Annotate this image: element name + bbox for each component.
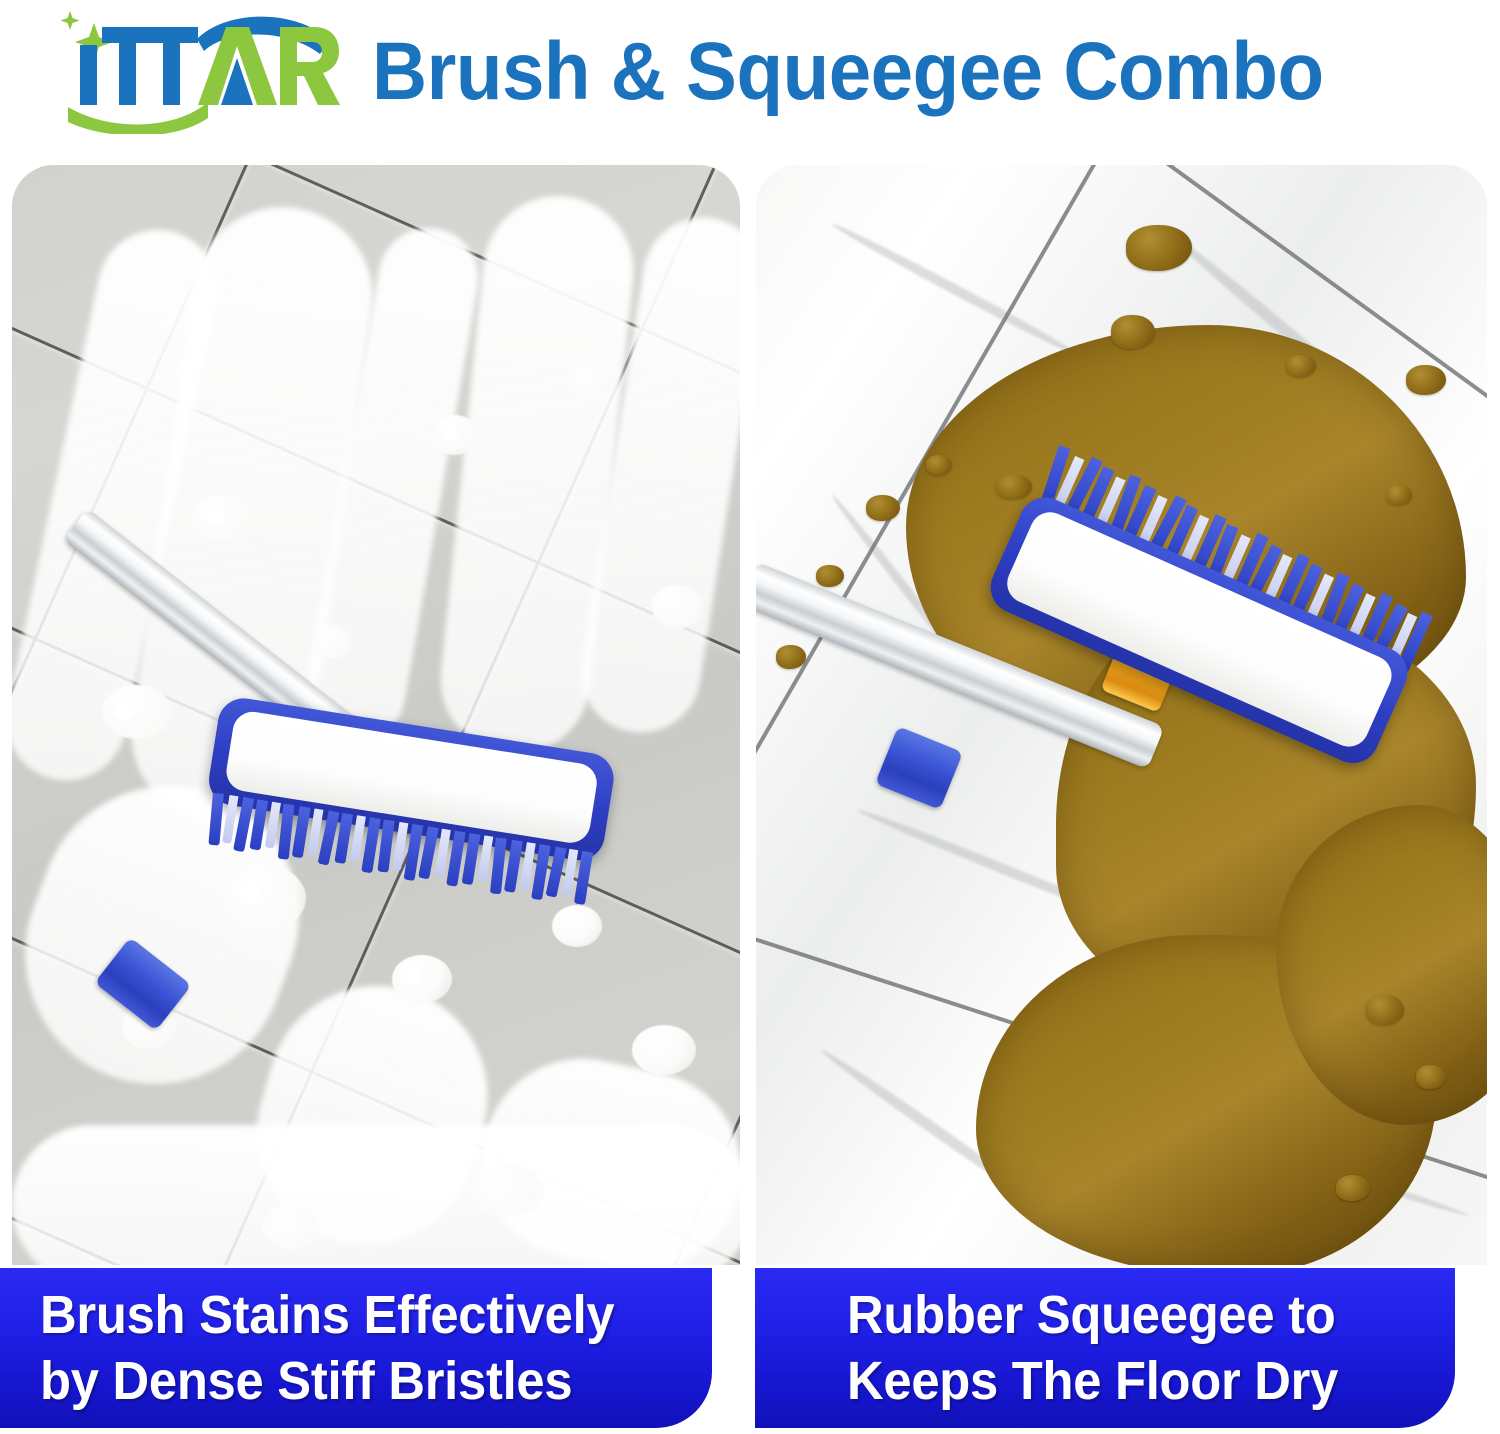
product-photo-left	[12, 165, 740, 1265]
brush-squeegee-tool	[12, 165, 740, 1265]
brand-logo	[58, 6, 340, 134]
caption-left-line1: Brush Stains Effectively	[40, 1282, 672, 1348]
page-title: Brush & Squeegee Combo	[372, 24, 1324, 120]
brush-squeegee-tool	[756, 165, 1487, 1265]
product-image-gallery	[0, 150, 1500, 1270]
product-photo-right	[756, 165, 1487, 1265]
blue-grip-ring	[875, 726, 963, 810]
caption-left-line2: by Dense Stiff Bristles	[40, 1348, 672, 1414]
caption-right-line2: Keeps The Floor Dry	[847, 1348, 1419, 1414]
caption-right-line1: Rubber Squeegee to	[847, 1282, 1419, 1348]
brush-head	[199, 695, 618, 906]
caption-right: Rubber Squeegee to Keeps The Floor Dry	[755, 1268, 1455, 1428]
header-bar: Brush & Squeegee Combo	[0, 0, 1500, 150]
caption-bar-group: Brush Stains Effectively by Dense Stiff …	[0, 1268, 1500, 1434]
blue-grip-ring	[94, 937, 191, 1031]
brush-head	[935, 433, 1441, 878]
caption-left: Brush Stains Effectively by Dense Stiff …	[0, 1268, 712, 1428]
